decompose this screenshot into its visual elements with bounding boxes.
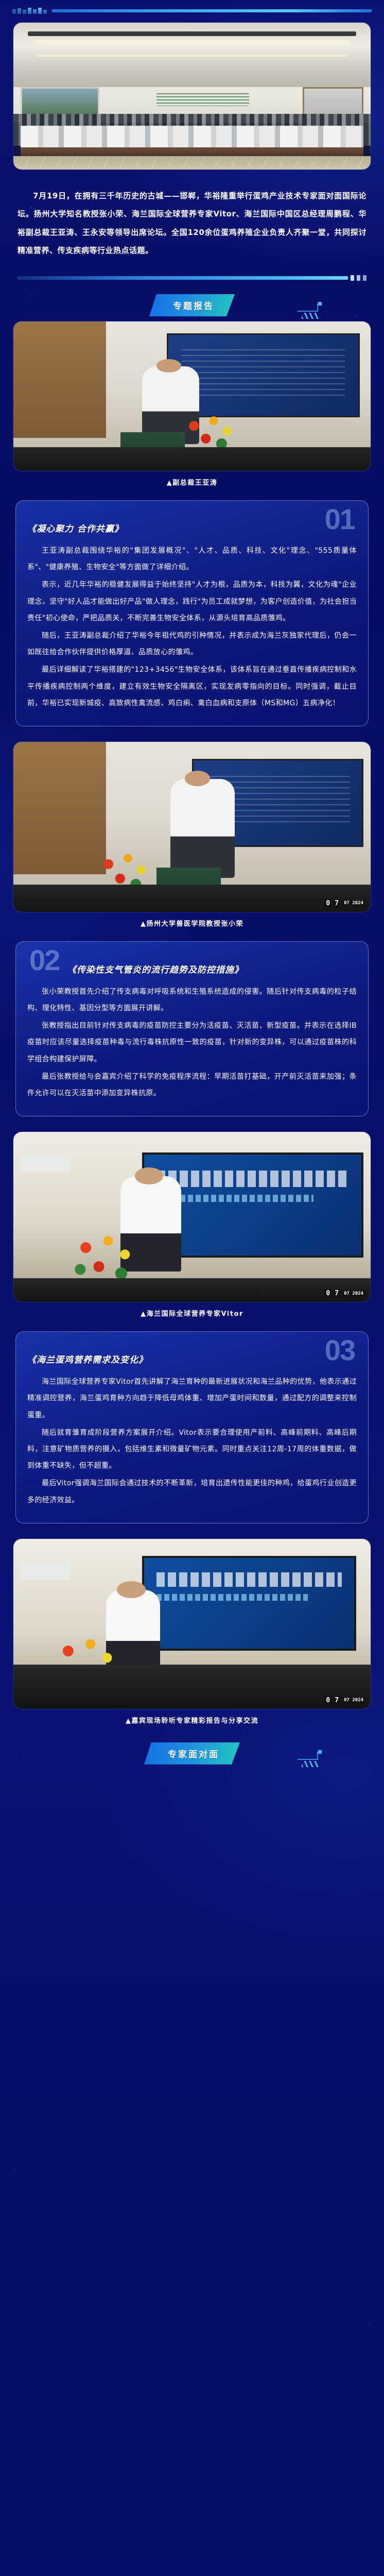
- card-paragraph: 最后Vitor强调海兰国际会通过技术的不断革新，培育出遗传性能更佳的种鸡，给蛋鸡…: [27, 1475, 357, 1508]
- photo-zhang-xiaorong: 0707 2024: [13, 742, 371, 912]
- decor-speck: 氵: [13, 2168, 18, 2174]
- bar-blocks-icon: [12, 8, 47, 14]
- card-paragraph: 王亚涛副总裁围绕华裕的"集团发展概况"、"人才、品质、科技、文化"理念、"555…: [27, 543, 357, 575]
- card-number-01: 01: [325, 505, 355, 534]
- photo-wang-yatao: [13, 321, 371, 471]
- hero-photo: [13, 23, 371, 170]
- card-paragraph: 最后详细解读了华裕搭建的"123+3456"生物安全体系，该体系旨在通过垂直传播…: [27, 662, 357, 711]
- caption-photo-3: ▲海兰国际全球营养专家Vitor: [0, 1308, 384, 1318]
- divider-line: [18, 276, 348, 280]
- photo-timestamp-stamp: 0707 2024: [324, 1289, 365, 1298]
- photo-audience: 0707 2024: [13, 1539, 371, 1709]
- card-number-02: 02: [29, 946, 59, 975]
- hero-photo-scene: [13, 23, 371, 170]
- card-paragraph: 张小荣教授首先介绍了传支病毒对呼吸系统和生殖系统造成的侵害。随后针对传支病毒的粒…: [27, 984, 357, 1016]
- divider-block-icon: [351, 275, 354, 281]
- caption-photo-2: ▲扬州大学兽医学院教授张小荣: [0, 918, 384, 928]
- card-paragraph: 最后张教授给与会嘉宾介绍了科学的免疫程序流程：早期活苗打基础，开产前灭活苗来加强…: [27, 1069, 357, 1101]
- special-report-banner-wrap: 专题报告: [0, 294, 384, 316]
- card-number-03: 03: [325, 1336, 355, 1365]
- card-paragraph: 表示，近几年华裕的稳健发展得益于始终坚持"人才为根，品质为本，科技为翼，文化为魂…: [27, 577, 357, 626]
- photo-timestamp-stamp: 0707 2024: [324, 899, 365, 908]
- photo-vitor: 0707 2024: [13, 1132, 371, 1302]
- bar-line: [52, 9, 372, 12]
- photo-timestamp-stamp: 0707 2024: [324, 1696, 365, 1705]
- photo-vitor-scene: [13, 1132, 371, 1302]
- special-report-banner: 专题报告: [149, 294, 235, 316]
- intro-paragraph: 7月19日，在拥有三千年历史的古城——邯郸，华裕隆重举行蛋鸡产业技术专家面对面国…: [18, 187, 366, 260]
- card-paragraph: 张教授指出目前针对传支病毒的疫苗防控主要分为活疫苗、灭活苗、新型疫苗。并表示在选…: [27, 1018, 357, 1067]
- card-title-02: 《传染性支气管炎的流行趋势及防控措施》: [67, 962, 357, 975]
- card-paragraph: 随后就育雏育成阶段营养方案展开介绍。Vitor表示要合理使用产前料、高峰前期料、…: [27, 1425, 357, 1475]
- report-card-02: 02 《传染性支气管炎的流行趋势及防控措施》 张小荣教授首先介绍了传支病毒对呼吸…: [15, 941, 369, 1116]
- divider-block-icon: [357, 275, 360, 281]
- banner-decoration-icon: [298, 303, 328, 319]
- guest-dialogue-banner: 专家面对面: [144, 1742, 240, 1765]
- photo-wang-yatao-scene: [13, 321, 371, 471]
- report-card-03: 03 《海兰蛋鸡营养需求及变化》 海兰国际全球营养专家Vitor首先讲解了海兰育…: [15, 1331, 369, 1523]
- section-divider: [18, 275, 366, 281]
- caption-photo-4: ▲嘉宾现场聆听专家精彩报告与分享交流: [0, 1715, 384, 1725]
- report-card-01: 01 《凝心聚力 合作共赢》 王亚涛副总裁围绕华裕的"集团发展概况"、"人才、品…: [15, 500, 369, 726]
- card-title-01: 《凝心聚力 合作共赢》: [27, 521, 357, 534]
- divider-block-icon: [363, 275, 366, 281]
- card-title-03: 《海兰蛋鸡营养需求及变化》: [27, 1352, 357, 1365]
- caption-photo-1: ▲副总裁王亚涛: [0, 477, 384, 487]
- bottom-spacer: [0, 1765, 384, 1785]
- card-paragraph: 随后，王亚涛副总裁介绍了华裕今年祖代鸡的引种情况，并表示成为海兰灰独家代理后，仍…: [27, 628, 357, 660]
- card-paragraph: 海兰国际全球营养专家Vitor首先讲解了海兰育种的最新进展状况和海兰品种的优势，…: [27, 1374, 357, 1423]
- decor-speck: 氵: [369, 2323, 373, 2328]
- photo-zhang-xiaorong-scene: [13, 742, 371, 912]
- guest-dialogue-banner-wrap: 专家面对面: [0, 1742, 384, 1765]
- top-decoration-bar: [12, 4, 372, 18]
- photo-audience-scene: [13, 1539, 371, 1709]
